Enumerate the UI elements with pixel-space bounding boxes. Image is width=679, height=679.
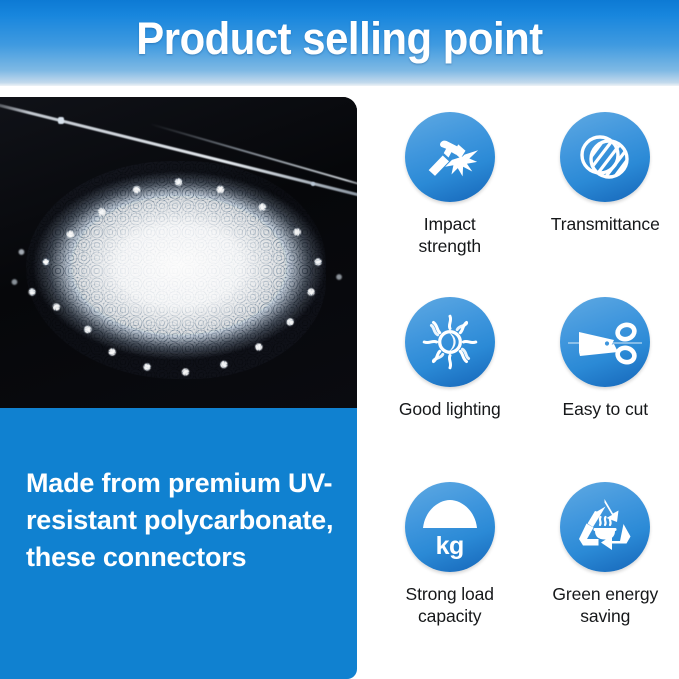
product-photo bbox=[0, 97, 357, 408]
feature-transmittance[interactable]: Transmittance bbox=[532, 112, 679, 297]
claim-text: Made from premium UV-resistant polycarbo… bbox=[26, 465, 338, 576]
transmittance-circles-icon bbox=[560, 112, 650, 202]
left-column: Made from premium UV-resistant polycarbo… bbox=[0, 97, 357, 679]
feature-label: Easy to cut bbox=[563, 398, 648, 420]
feature-label: Impact strength bbox=[419, 213, 481, 257]
feature-label: Green energy saving bbox=[552, 583, 658, 627]
kg-badge-label: kg bbox=[405, 534, 495, 559]
feature-green-energy-saving[interactable]: Green energy saving bbox=[532, 482, 679, 667]
hammer-impact-icon bbox=[405, 112, 495, 202]
pellet-texture bbox=[26, 161, 326, 379]
feature-strong-load-capacity[interactable]: kg Strong load capacity bbox=[376, 482, 524, 667]
photo-highlight-speck bbox=[58, 117, 64, 124]
scissors-icon bbox=[560, 297, 650, 387]
feature-good-lighting[interactable]: Good lighting bbox=[376, 297, 524, 482]
page-title: Product selling point bbox=[24, 0, 655, 78]
feature-grid: Impact strength bbox=[376, 112, 679, 667]
feature-impact-strength[interactable]: Impact strength bbox=[376, 112, 524, 297]
feature-label: Strong load capacity bbox=[406, 583, 494, 627]
feature-label: Transmittance bbox=[551, 213, 660, 235]
weight-kg-icon: kg bbox=[405, 482, 495, 572]
claim-panel: Made from premium UV-resistant polycarbo… bbox=[0, 408, 357, 679]
header-banner: Product selling point bbox=[0, 0, 679, 86]
recycle-icon bbox=[560, 482, 650, 572]
feature-easy-to-cut[interactable]: Easy to cut bbox=[532, 297, 679, 482]
feature-label: Good lighting bbox=[399, 398, 501, 420]
sun-icon bbox=[405, 297, 495, 387]
